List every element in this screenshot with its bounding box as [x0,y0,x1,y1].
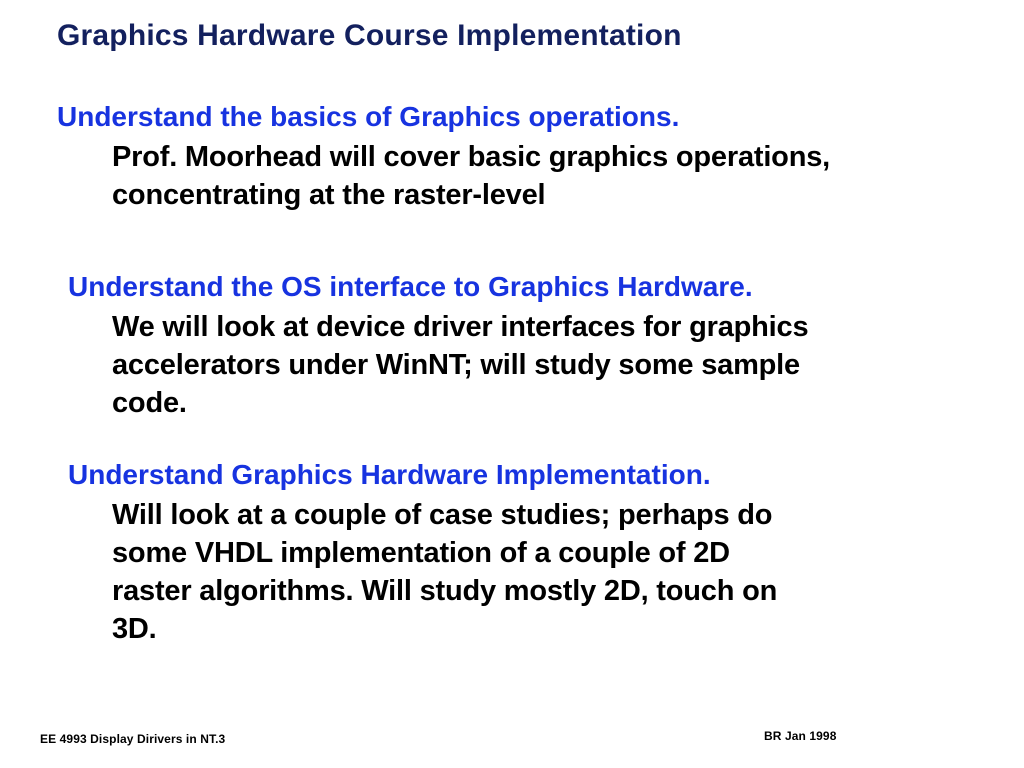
slide-section-1: Understand the basics of Graphics operat… [0,100,1024,214]
section-body-1: Prof. Moorhead will cover basic graphics… [0,138,1024,214]
section-body-line: We will look at device driver interfaces… [112,308,1024,346]
footer-course-label: EE 4993 Display Dirivers in NT.3 [40,732,225,747]
slide-section-3: Understand Graphics Hardware Implementat… [0,458,1024,648]
section-body-line: some VHDL implementation of a couple of … [112,534,1024,572]
slide-title: Graphics Hardware Course Implementation [57,19,682,53]
section-body-line: concentrating at the raster-level [112,176,1024,214]
section-body-2: We will look at device driver interfaces… [0,308,1024,422]
section-body-line: accelerators under WinNT; will study som… [112,346,1024,384]
section-heading-3: Understand Graphics Hardware Implementat… [0,458,1024,492]
section-body-line: raster algorithms. Will study mostly 2D,… [112,572,1024,610]
section-heading-1: Understand the basics of Graphics operat… [0,100,1024,134]
section-body-line: 3D. [112,610,1024,648]
section-body-3: Will look at a couple of case studies; p… [0,496,1024,648]
footer-author-date: BR Jan 1998 [764,729,836,744]
slide-section-2: Understand the OS interface to Graphics … [0,270,1024,422]
section-body-line: Prof. Moorhead will cover basic graphics… [112,138,1024,176]
section-body-line: code. [112,384,1024,422]
presentation-slide: Graphics Hardware Course Implementation … [0,0,1024,768]
section-heading-2: Understand the OS interface to Graphics … [0,270,1024,304]
section-body-line: Will look at a couple of case studies; p… [112,496,1024,534]
